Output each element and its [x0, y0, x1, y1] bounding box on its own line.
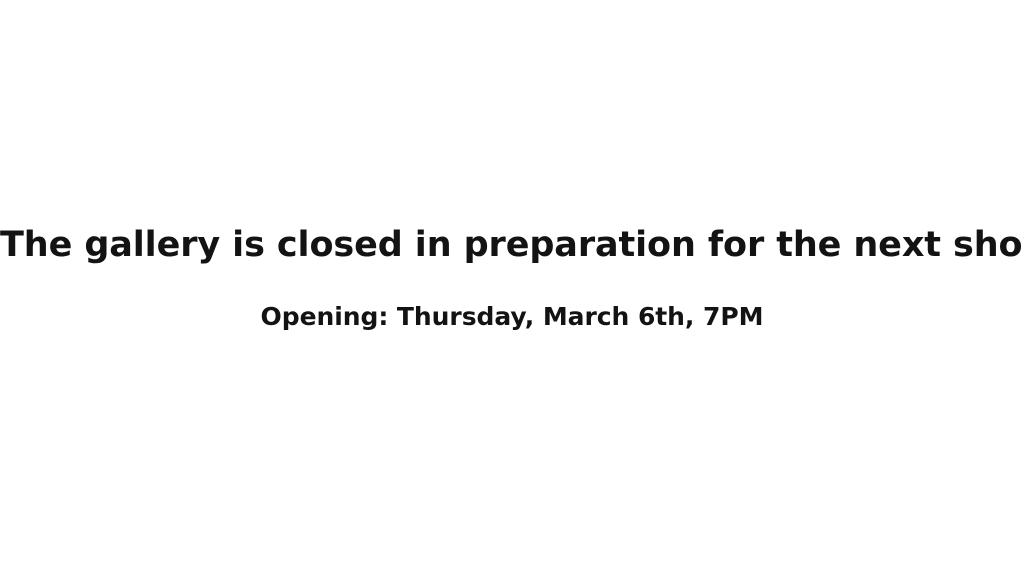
notice-opening-details: Opening: Thursday, March 6th, 7PM: [0, 300, 1024, 334]
notice-headline: The gallery is closed in preparation for…: [0, 222, 1024, 268]
gallery-closed-notice-screen: The gallery is closed in preparation for…: [0, 0, 1024, 566]
